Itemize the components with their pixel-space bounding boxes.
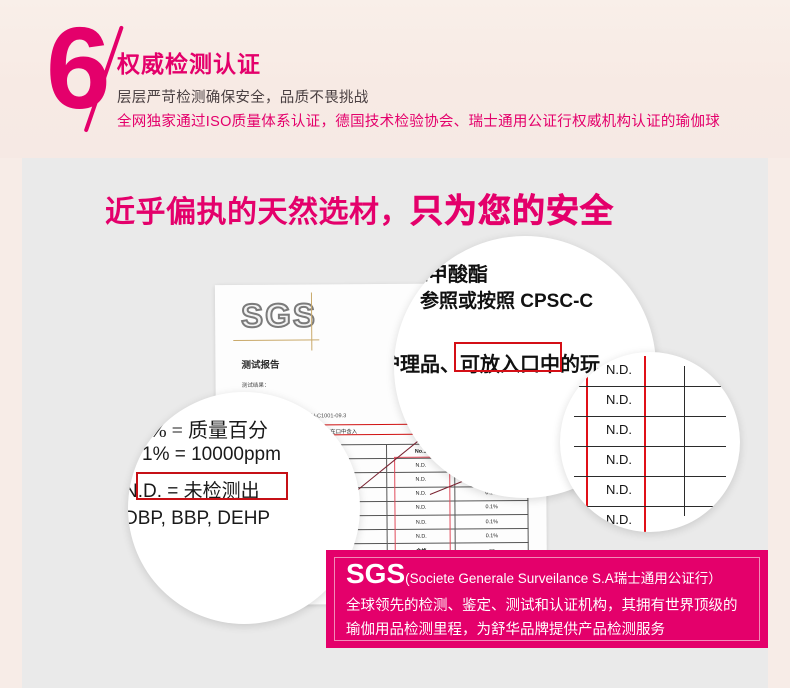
panel-headline: 近乎偏执的天然选材，只为您的安全: [105, 184, 614, 232]
magnified-result-row: N.D.: [574, 506, 726, 532]
magnified-result-value: N.D.: [606, 482, 632, 497]
sgs-info-panel: SGS(Societe Generale Surveilance S.A瑞士通用…: [326, 550, 768, 648]
sgs-panel-description-line-2: 瑜伽用品检测里程，为舒华品牌提供产品检测服务: [346, 618, 665, 639]
magnified-result-value: N.D.: [606, 422, 632, 437]
magnified-highlight-box-top: [454, 342, 562, 372]
magnified-note-line-2: 1% = 10000ppm: [142, 444, 281, 466]
page-title: 权威检测认证: [117, 45, 261, 79]
sgs-logo-watermark: SGS: [241, 296, 317, 335]
promo-page: 6 权威检测认证 层层严苛检测确保安全，品质不畏挑战 全网独家通过ISO质量体系…: [0, 0, 790, 688]
header-subtitle-secondary: 全网独家通过ISO质量体系认证，德国技术检验协会、瑞士通用公证行权威机构认证的瑜…: [117, 110, 720, 131]
magnified-result-row: N.D.: [574, 416, 726, 447]
magnified-result-row: N.D.: [574, 476, 726, 507]
magnified-result-value: N.D.: [606, 452, 632, 467]
magnified-result-value: N.D.: [606, 512, 632, 527]
magnifier-circle-right: N.D. N.D. N.D. N.D. N.D. N.D.: [560, 352, 740, 532]
report-test-result-label: 测试结果：: [242, 381, 270, 389]
sgs-panel-description-line-1: 全球领先的检测、鉴定、测试和认证机构，其拥有世界顶级的: [346, 594, 738, 615]
row-result: N.D.: [387, 529, 456, 544]
logo-crop-mark-horizontal: [233, 339, 319, 341]
row-result: N.D.: [387, 501, 456, 516]
magnified-note-line-1: % = 质量百分: [150, 414, 268, 443]
sgs-panel-full-name: (Societe Generale Surveilance S.A瑞士通用公证行…: [405, 571, 722, 586]
magnified-result-row: N.D.: [574, 446, 726, 477]
row-limit: 0.1%: [456, 529, 529, 544]
sgs-panel-title-row: SGS(Societe Generale Surveilance S.A瑞士通用…: [346, 558, 722, 590]
row-result: N.D.: [387, 515, 456, 530]
magnified-highlight-box-left: [136, 472, 288, 500]
magnified-result-row: N.D.: [574, 356, 726, 387]
header-subtitle-primary: 层层严苛检测确保安全，品质不畏挑战: [117, 86, 369, 107]
magnified-result-value: N.D.: [606, 392, 632, 407]
headline-part-two: 只为您的安全: [410, 191, 614, 230]
headline-part-one: 近乎偏执的天然选材，: [105, 196, 410, 229]
magnified-text-line-2: 参照或按照 CPSC-C: [420, 286, 593, 313]
row-result: N.D.: [387, 472, 456, 487]
magnified-text-line-1: 苯二甲酸酯: [394, 258, 488, 287]
sgs-panel-logo: SGS: [346, 558, 405, 589]
report-title: 测试报告: [241, 357, 279, 371]
header-band: 6 权威检测认证 层层严苛检测确保安全，品质不畏挑战 全网独家通过ISO质量体系…: [0, 0, 790, 158]
magnified-note-line-4: DBP, BBP, DEHP: [128, 508, 270, 530]
magnified-result-value: N.D.: [606, 362, 632, 377]
row-limit: 0.1%: [455, 514, 528, 529]
section-number: 6: [46, 14, 109, 122]
row-limit: 0.1%: [455, 500, 528, 515]
magnified-result-row: N.D.: [574, 386, 726, 417]
